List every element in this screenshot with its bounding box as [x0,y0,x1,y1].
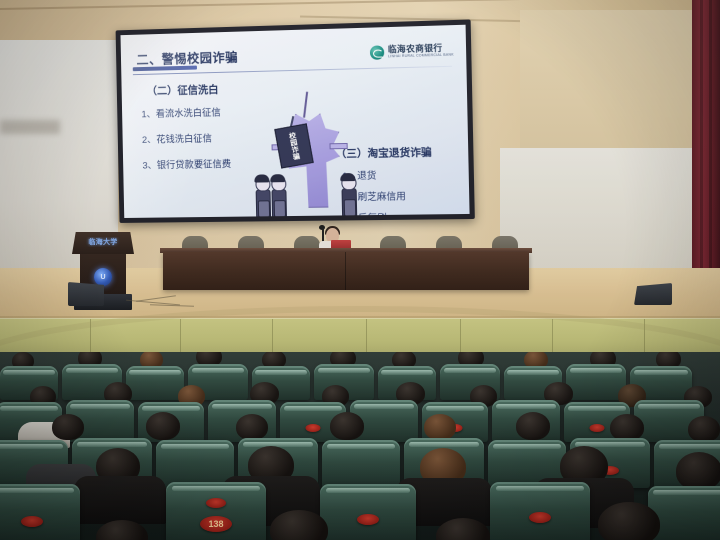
audience-head [424,414,456,440]
projection-screen: 二、警惕校园诈骗 临海农商银行 LINHAI RURAL COMMERCIAL … [116,19,475,222]
left-item-2: 2、花钱洗白征信 [142,131,212,146]
fraud-tag: 校园诈骗 [274,123,313,168]
audience-head [610,414,644,441]
fraud-tag-text: 校园诈骗 [287,131,301,160]
audience-seating: 138 [0,352,720,540]
student-figure [340,175,357,218]
bank-logo-text: 临海农商银行 LINHAI RURAL COMMERCIAL BANK [388,44,454,59]
audience-head [688,416,720,442]
seat-number-plate [306,424,321,432]
audience-head [52,414,84,440]
student-figure [254,176,271,218]
head-table-seam [345,252,346,290]
stage-monitor-speaker [634,283,672,305]
student-figure [270,176,287,218]
audience-head [330,412,364,440]
seat[interactable] [320,484,416,540]
hook-line-icon [303,92,308,118]
presentation-slide: 二、警惕校园诈骗 临海农商银行 LINHAI RURAL COMMERCIAL … [121,25,470,218]
left-item-1: 1、看流水洗白征信 [141,105,221,121]
audience-head [598,502,660,540]
floor-cables [126,296,196,310]
title-underline-accent [133,66,197,72]
seat[interactable] [126,366,184,400]
left-item-3: 3、银行贷款要征信费 [142,156,231,171]
hook-arm-right [329,143,347,149]
audience-head [676,452,720,490]
wall-shadow [0,120,60,134]
seat[interactable] [156,440,234,488]
bank-name-en: LINHAI RURAL COMMERCIAL BANK [388,54,454,59]
stage-curtain [692,0,720,300]
screen-surface: 二、警惕校园诈骗 临海农商银行 LINHAI RURAL COMMERCIAL … [121,25,470,218]
wall-panel-right [520,10,720,151]
lecture-hall-photo: 二、警惕校园诈骗 临海农商银行 LINHAI RURAL COMMERCIAL … [0,0,720,540]
bank-logo: 临海农商银行 LINHAI RURAL COMMERCIAL BANK [370,43,454,59]
seat[interactable] [0,484,80,540]
wall-lower-right [500,148,720,268]
university-emblem: U [94,268,112,286]
head-table-front [163,252,529,290]
seat-number-plate [529,512,551,523]
audience-head [236,414,268,440]
seat[interactable] [566,364,626,400]
seat[interactable]: 138 [166,482,266,540]
seat[interactable] [322,440,400,488]
stage-monitor-speaker [68,282,104,306]
podium-sign-text: 临海大学 [86,237,120,247]
audience-head [146,412,180,440]
audience-shoulder [74,476,166,524]
left-subhead: （二）征信洗白 [147,82,219,99]
campus-fraud-illustration: 校园诈骗 [249,90,372,218]
seat-number-plate [206,498,226,508]
wave-circle-icon [370,45,384,60]
audience-head [516,412,550,440]
seat-number-plate-numbered: 138 [200,516,232,532]
seat-number-plate [590,424,605,432]
seat[interactable] [490,482,590,540]
seat-number-plate [21,516,43,527]
seat-number-plate [357,514,379,525]
